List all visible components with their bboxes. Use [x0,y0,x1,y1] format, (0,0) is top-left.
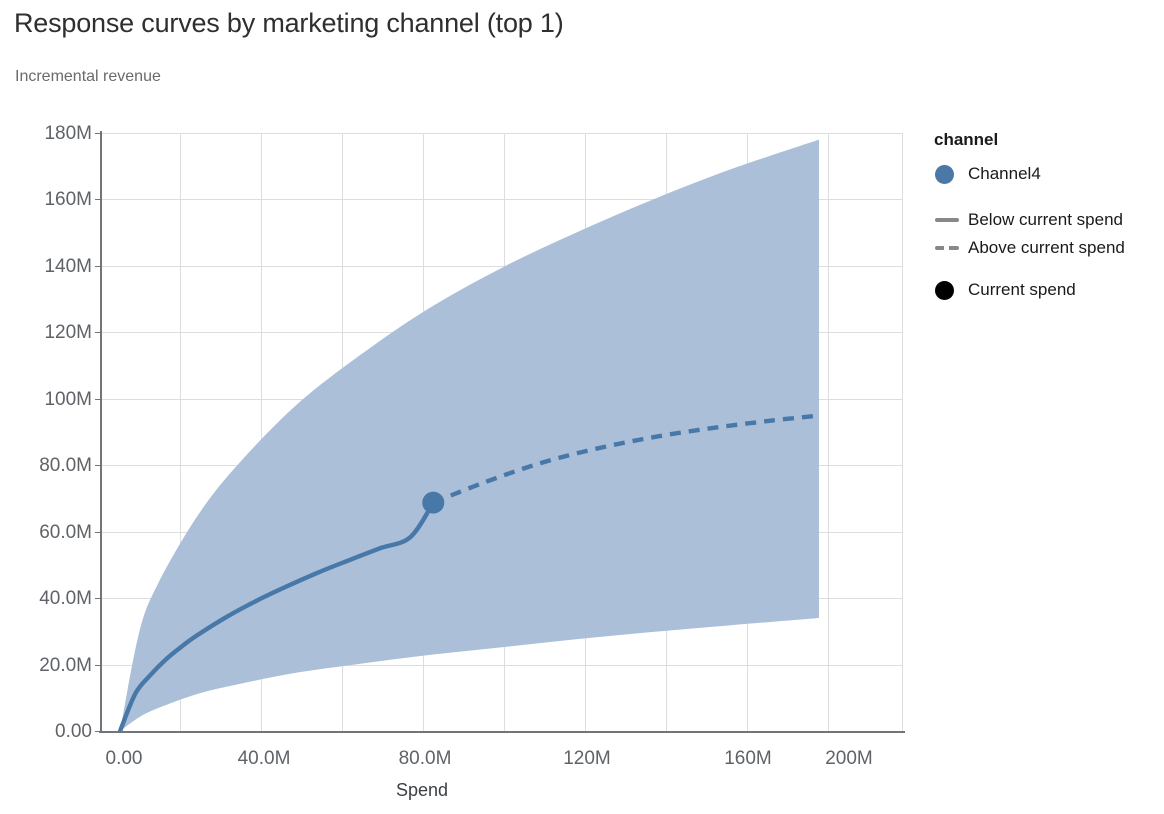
y-tick [95,465,101,466]
legend-item-current-spend[interactable]: Current spend [934,276,1164,304]
y-tick [95,199,101,200]
current-spend-marker[interactable] [422,492,444,514]
legend-item-above-current-spend[interactable]: Above current spend [934,234,1164,262]
y-tick-label: 80.0M [8,455,92,477]
y-tick-label: 120M [8,322,92,344]
x-tick-label: 160M [688,748,808,770]
y-tick [95,598,101,599]
y-tick [95,665,101,666]
y-tick-label: 60.0M [8,522,92,544]
legend-item-below-current-spend[interactable]: Below current spend [934,206,1164,234]
channel-color-swatch-icon [934,165,968,184]
x-tick-label: 0.00 [64,748,184,770]
legend-item-label: Channel4 [968,164,1041,184]
y-axis-line [100,131,102,733]
dashed-line-swatch-icon [934,246,968,250]
y-tick-label: 20.0M [8,655,92,677]
x-tick-label: 120M [527,748,647,770]
y-tick-label: 0.00 [8,721,92,743]
plot-area [101,133,903,731]
legend-item-label: Below current spend [968,210,1123,230]
x-axis-title: Spend [0,780,1164,801]
series-layer [101,133,903,731]
solid-line-swatch-icon [934,218,968,222]
confidence-band [120,140,819,731]
chart-subtitle: Incremental revenue [15,68,161,86]
y-tick [95,731,101,732]
y-tick [95,266,101,267]
plot-canvas [101,133,903,731]
y-tick-label: 180M [8,123,92,145]
x-tick-label: 80.0M [365,748,485,770]
legend-title: channel [934,130,1164,150]
page-title: Response curves by marketing channel (to… [14,8,564,39]
legend-spacer [934,188,1164,206]
legend-spacer [934,262,1164,276]
y-tick [95,399,101,400]
chart-page: Response curves by marketing channel (to… [0,0,1164,814]
y-tick [95,133,101,134]
legend-item-label: Above current spend [968,238,1125,258]
y-tick [95,532,101,533]
legend-item-label: Current spend [968,280,1076,300]
y-tick-label: 40.0M [8,588,92,610]
legend-item-channel4[interactable]: Channel4 [934,160,1164,188]
current-spend-swatch-icon [934,281,968,300]
legend: channel Channel4 Below current spend Abo… [934,130,1164,304]
x-axis-line [99,731,905,733]
y-tick [95,332,101,333]
x-tick-label: 200M [789,748,909,770]
y-tick-label: 160M [8,189,92,211]
x-tick-label: 40.0M [204,748,324,770]
y-tick-label: 100M [8,389,92,411]
y-tick-label: 140M [8,256,92,278]
